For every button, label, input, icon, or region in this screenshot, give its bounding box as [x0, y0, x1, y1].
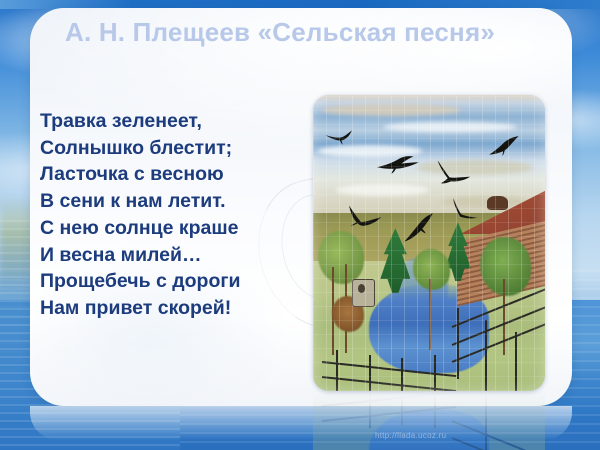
- painting-fence-post: [457, 308, 459, 379]
- painting-tree-trunk: [429, 279, 431, 350]
- painting-cloud: [336, 184, 429, 196]
- illustration-canvas: [313, 95, 545, 391]
- painting-fence-post: [369, 355, 371, 391]
- painting-fence-post: [336, 350, 338, 391]
- painting-fence-post: [515, 332, 517, 391]
- painting-tree-foliage: [480, 237, 531, 296]
- illustration-image[interactable]: [313, 95, 545, 391]
- painting-shrub: [413, 249, 450, 290]
- painting-tree-stump: [352, 279, 375, 308]
- painting-house-window: [487, 196, 508, 211]
- poem-text: Травка зеленеет, Солнышко блестит; Ласто…: [40, 108, 308, 322]
- painting-cloud: [322, 104, 461, 116]
- source-watermark: http://llada.ucoz.ru: [375, 431, 446, 440]
- painting-fence-post: [485, 320, 487, 391]
- presentation-slide: А. Н. Плещеев «Сельская песня» Травка зе…: [0, 0, 600, 450]
- painting-fence-post: [434, 355, 436, 391]
- painting-tree-trunk: [503, 279, 505, 356]
- painting-fence-post: [401, 358, 403, 391]
- painting-cloud: [383, 122, 518, 132]
- swallow-icon: [375, 152, 423, 177]
- slide-title: А. Н. Плещеев «Сельская песня»: [55, 16, 505, 49]
